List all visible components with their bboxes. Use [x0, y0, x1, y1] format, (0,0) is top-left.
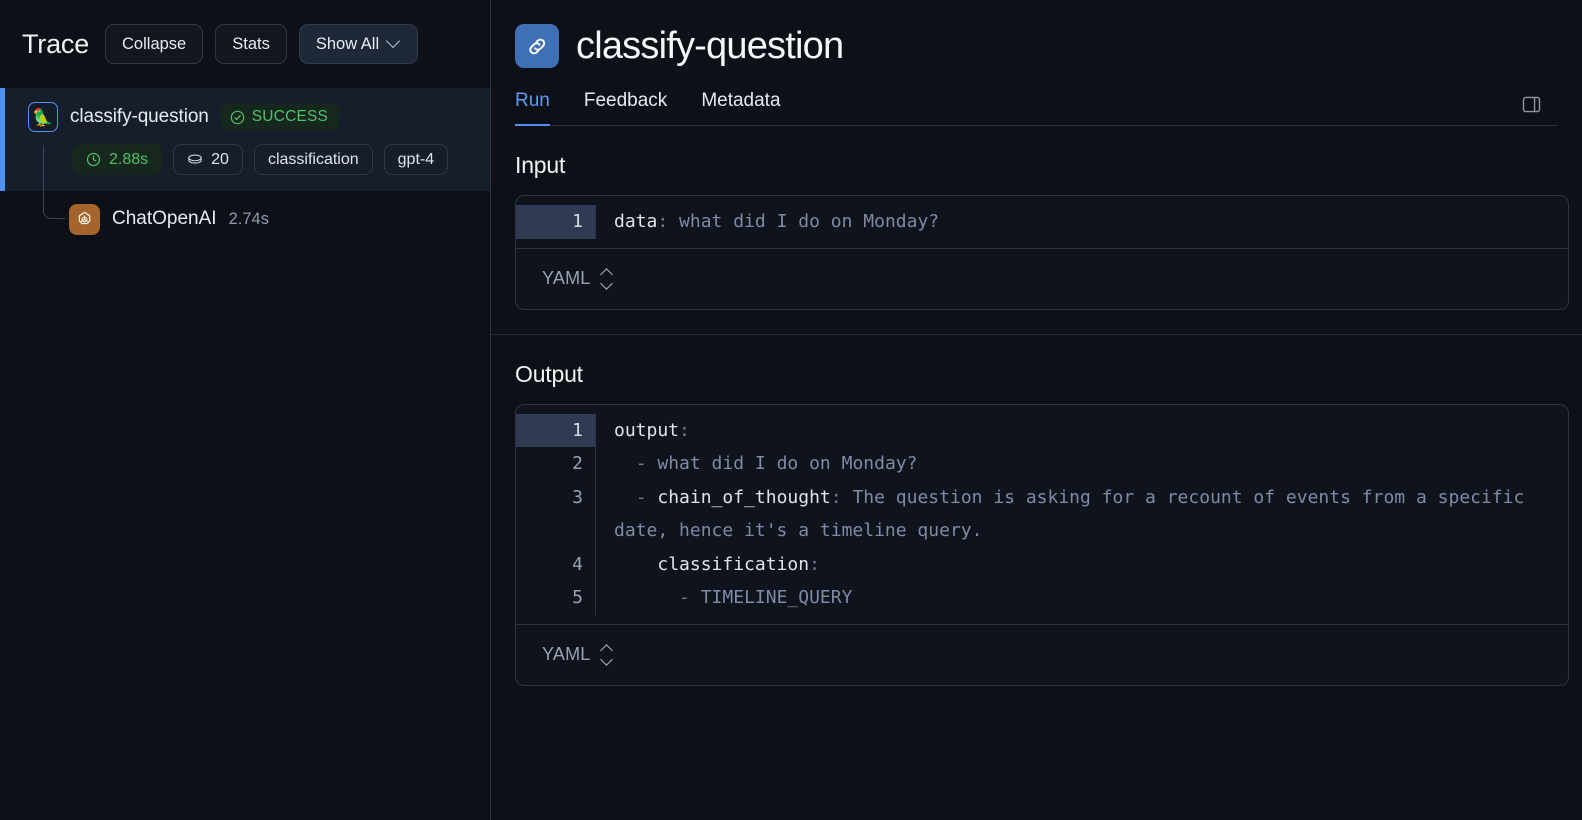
show-all-button[interactable]: Show All: [299, 24, 418, 64]
link-icon: [515, 24, 559, 68]
yaml-key: chain_of_thought: [657, 487, 830, 508]
model-badge-label: gpt-4: [398, 151, 434, 169]
line-number: 2: [516, 447, 583, 481]
input-code-text[interactable]: data: what did I do on Monday?: [596, 205, 1568, 239]
tree-node-classify-question[interactable]: 🦜 classify-question SUCCESS: [0, 88, 490, 191]
output-line-numbers: 1 2 3 4 5: [516, 414, 596, 615]
tab-run[interactable]: Run: [515, 90, 550, 125]
token-icon: [187, 153, 203, 166]
output-code-text[interactable]: output: - what did I do on Monday? - cha…: [596, 414, 1568, 615]
input-code-area: 1 data: what did I do on Monday?: [516, 196, 1568, 249]
tree-node-header: 🦜 classify-question SUCCESS: [0, 102, 490, 132]
yaml-colon: :: [831, 487, 842, 508]
yaml-value: what did I do on Monday?: [657, 453, 917, 474]
openai-logo-glyph: [74, 209, 95, 230]
sidebar-panel-icon[interactable]: [1521, 94, 1542, 115]
tree-node-label: classify-question: [70, 106, 209, 128]
tree-node-badges: 2.88s 20 classification gpt-4: [0, 144, 490, 175]
input-heading: Input: [515, 152, 1558, 179]
trace-tree: 🦜 classify-question SUCCESS: [0, 88, 490, 247]
line-number: 3: [516, 481, 583, 515]
stats-button-label: Stats: [232, 35, 270, 54]
sidebar-header: Trace Collapse Stats Show All: [0, 0, 490, 88]
input-code-footer: YAML: [516, 249, 1568, 309]
yaml-value: TIMELINE_QUERY: [701, 587, 853, 608]
input-line-numbers: 1: [516, 205, 596, 239]
input-language-label: YAML: [542, 268, 590, 289]
tab-bar: Run Feedback Metadata: [515, 90, 1558, 126]
show-all-button-label: Show All: [316, 35, 379, 54]
output-language-label: YAML: [542, 644, 590, 665]
collapse-button[interactable]: Collapse: [105, 24, 203, 64]
output-code-card: 1 2 3 4 5 output: - what did I do on Mon…: [515, 404, 1569, 686]
run-header: classify-question Run Feedback Metadata: [491, 0, 1582, 126]
yaml-value: what did I do on Monday?: [668, 211, 939, 232]
trace-viewer-app: Trace Collapse Stats Show All 🦜 classify…: [0, 0, 1582, 820]
line-number: 4: [516, 548, 583, 582]
tree-connector-line: [43, 145, 65, 219]
line-number-wrap-spacer: [516, 514, 583, 548]
model-badge: gpt-4: [384, 144, 448, 175]
line-number: 5: [516, 581, 583, 615]
yaml-key: output: [614, 420, 679, 441]
yaml-key: data: [614, 211, 657, 232]
status-badge-label: SUCCESS: [252, 108, 328, 126]
tree-node-child-label: ChatOpenAI: [112, 208, 217, 230]
latency-badge: 2.88s: [72, 144, 162, 175]
openai-icon: [69, 204, 100, 235]
line-number: 1: [516, 414, 595, 448]
collapse-button-label: Collapse: [122, 35, 186, 54]
yaml-dash: -: [614, 453, 657, 474]
tree-node-chatopenai[interactable]: ChatOpenAI 2.74s: [0, 191, 490, 247]
tag-badge-label: classification: [268, 151, 359, 169]
run-title-row: classify-question: [515, 24, 1558, 68]
output-code-area: 1 2 3 4 5 output: - what did I do on Mon…: [516, 405, 1568, 625]
output-code-footer: YAML: [516, 625, 1568, 685]
tag-badge: classification: [254, 144, 373, 175]
link-icon-glyph: [525, 34, 550, 59]
sidebar-panel-icon-glyph: [1521, 94, 1542, 115]
token-badge: 20: [173, 144, 243, 175]
output-heading: Output: [515, 361, 1558, 388]
input-section: Input 1 data: what did I do on Monday? Y…: [491, 126, 1582, 334]
stats-button[interactable]: Stats: [215, 24, 287, 64]
tree-node-child-duration: 2.74s: [229, 210, 269, 229]
yaml-colon: :: [657, 211, 668, 232]
tab-feedback[interactable]: Feedback: [584, 90, 667, 125]
input-language-select-icon[interactable]: [601, 269, 614, 289]
clock-icon: [86, 152, 101, 167]
check-circle-icon: [230, 110, 245, 125]
line-number: 1: [516, 205, 595, 239]
latency-badge-label: 2.88s: [109, 151, 148, 169]
input-code-card: 1 data: what did I do on Monday? YAML: [515, 195, 1569, 310]
yaml-key: classification: [614, 554, 809, 575]
yaml-dash: -: [614, 587, 701, 608]
yaml-colon: :: [809, 554, 820, 575]
output-section: Output 1 2 3 4 5 output: - what did I do…: [491, 334, 1582, 710]
trace-sidebar: Trace Collapse Stats Show All 🦜 classify…: [0, 0, 491, 820]
tab-metadata[interactable]: Metadata: [701, 90, 780, 125]
sidebar-title: Trace: [22, 29, 89, 60]
yaml-colon: :: [679, 420, 690, 441]
token-badge-label: 20: [211, 151, 229, 169]
parrot-icon: 🦜: [28, 102, 58, 132]
tab-list: Run Feedback Metadata: [515, 90, 781, 125]
chevron-down-icon: [388, 36, 401, 49]
output-language-select-icon[interactable]: [601, 645, 614, 665]
run-detail-panel: classify-question Run Feedback Metadata …: [491, 0, 1582, 820]
page-title: classify-question: [576, 25, 843, 68]
yaml-dash: -: [614, 487, 657, 508]
status-badge: SUCCESS: [221, 104, 339, 130]
